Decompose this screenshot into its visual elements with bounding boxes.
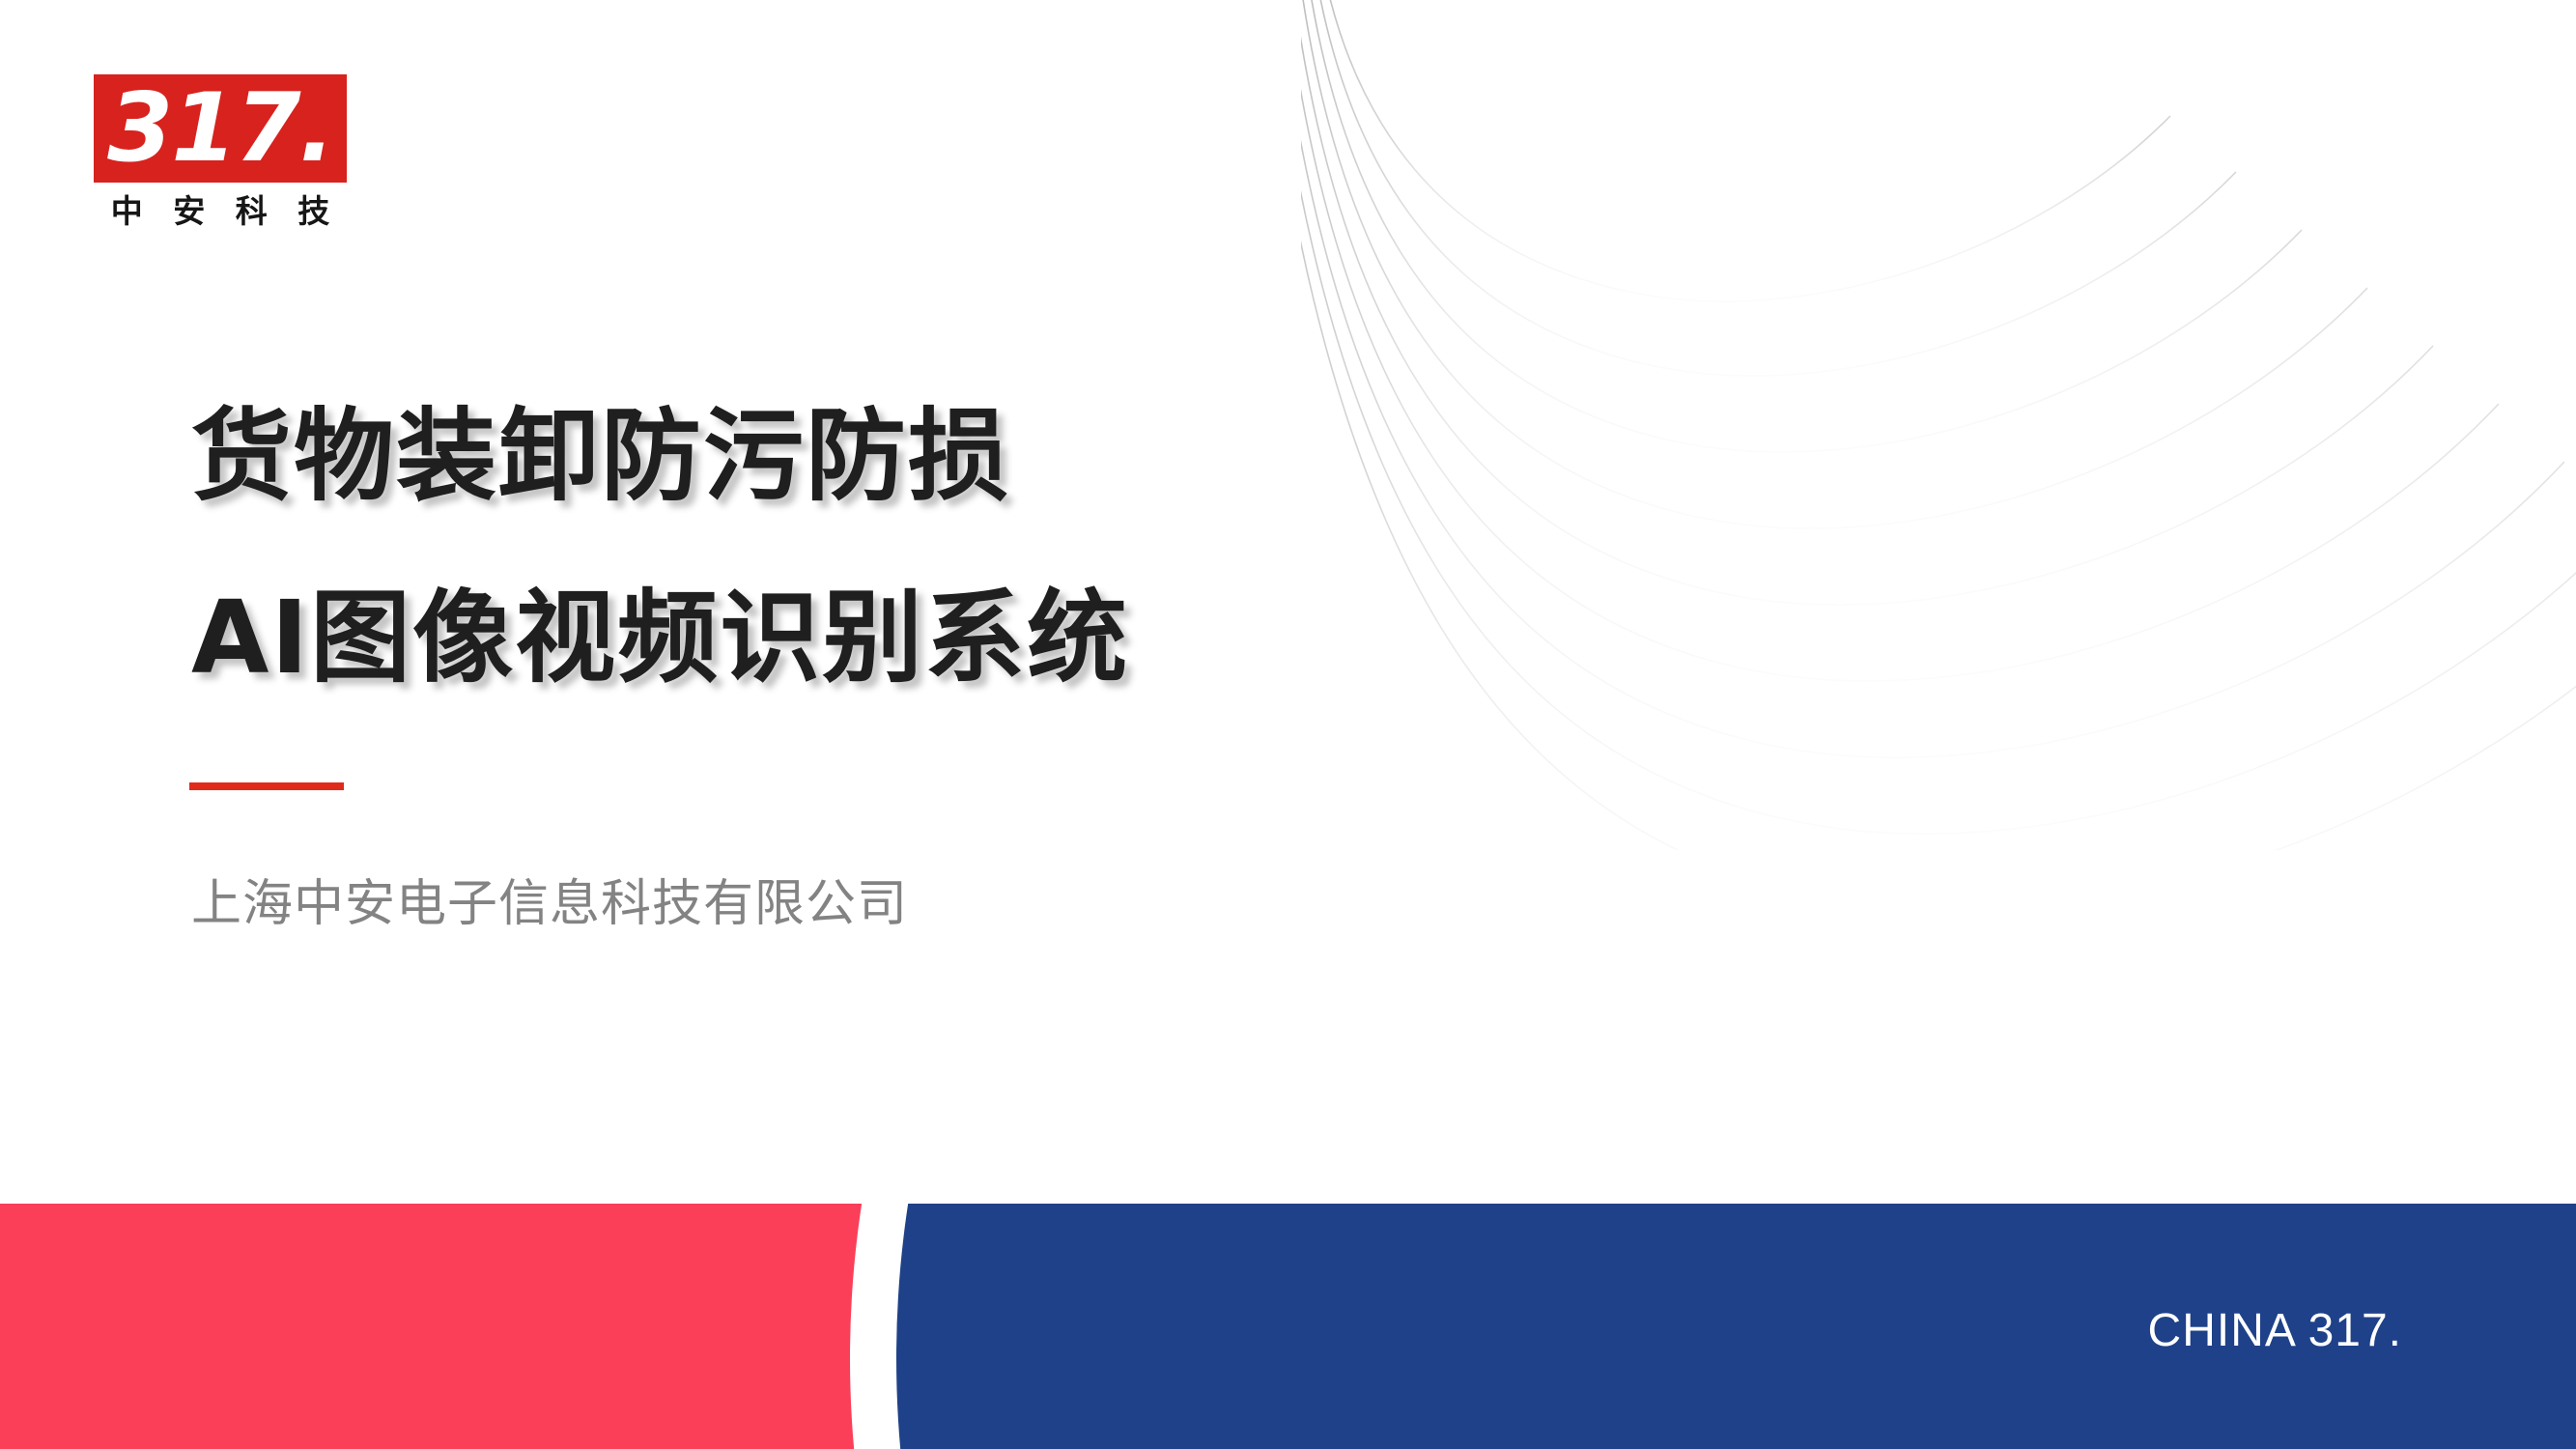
logo-mark-text: 317. <box>94 81 347 176</box>
title-line-1: 货物装卸防污防损 <box>191 406 1543 506</box>
title-line-2: AI图像视频识别系统 <box>191 587 1543 688</box>
page-title: 货物装卸防污防损 AI图像视频识别系统 <box>191 406 1543 688</box>
red-divider-rule <box>189 782 344 790</box>
banner-brand-label: CHINA 317. <box>2148 1308 2402 1354</box>
bottom-banner: CHINA 317. <box>0 1204 2576 1449</box>
company-name-subtitle: 上海中安电子信息科技有限公司 <box>191 874 908 934</box>
logo-mark-box: 317. <box>94 74 347 183</box>
logo-subtitle-text: 中 安 科 技 <box>94 195 347 227</box>
company-logo: 317. 中 安 科 技 <box>94 74 347 227</box>
title-slide: 317. 中 安 科 技 货物装卸防污防损 AI图像视频识别系统 上海中安电子信… <box>0 0 2576 1449</box>
